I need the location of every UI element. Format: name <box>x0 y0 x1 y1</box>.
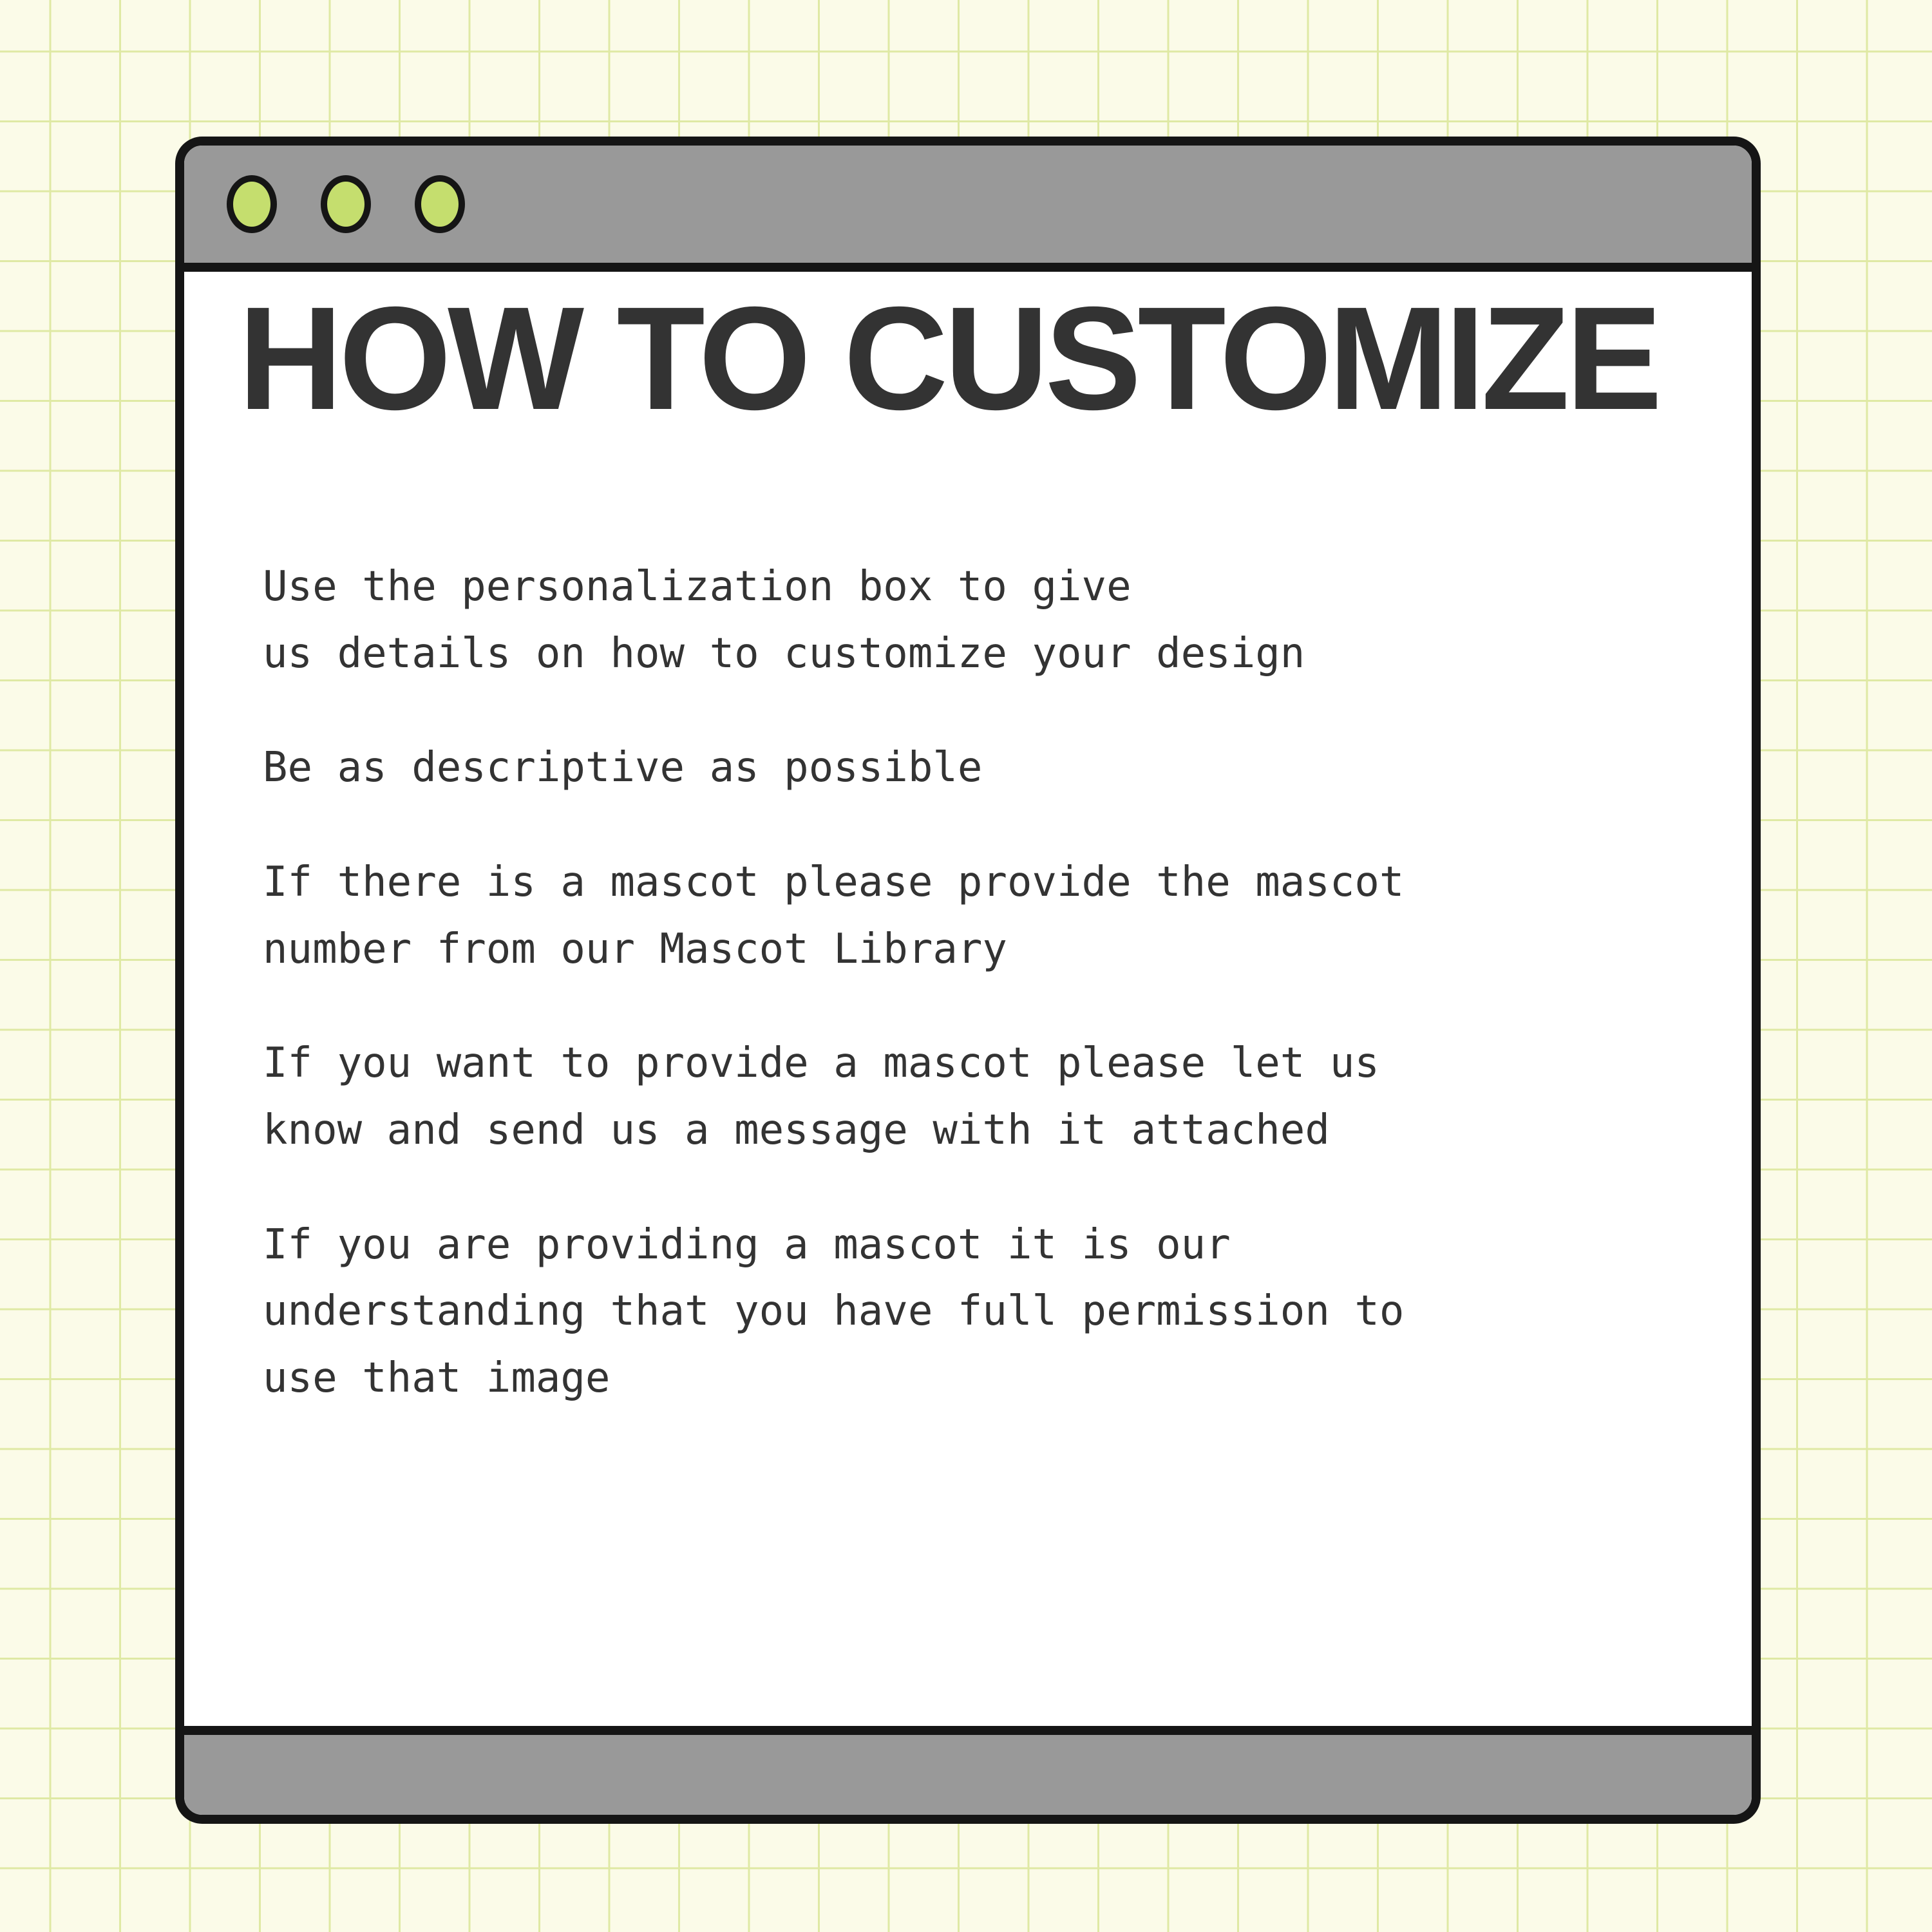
instruction-paragraph: Be as descriptive as possible <box>263 735 1713 802</box>
window-bottom-bar <box>184 1726 1752 1815</box>
window-content: HOW TO CUSTOMIZE Use the personalization… <box>184 272 1752 1726</box>
close-dot-icon[interactable] <box>227 175 277 233</box>
instruction-paragraph: Use the personalization box to give us d… <box>263 554 1713 687</box>
instructions-list: Use the personalization box to give us d… <box>263 554 1713 1412</box>
window-title-bar <box>184 146 1752 272</box>
instruction-paragraph: If you want to provide a mascot please l… <box>263 1030 1713 1164</box>
instruction-paragraph: If you are providing a mascot it is our … <box>263 1212 1713 1412</box>
instruction-paragraph: If there is a mascot please provide the … <box>263 849 1713 983</box>
maximize-dot-icon[interactable] <box>415 175 465 233</box>
minimize-dot-icon[interactable] <box>321 175 371 233</box>
page-title: HOW TO CUSTOMIZE <box>238 289 1685 430</box>
app-window: HOW TO CUSTOMIZE Use the personalization… <box>175 137 1761 1824</box>
grid-paper-background: HOW TO CUSTOMIZE Use the personalization… <box>0 0 1932 1932</box>
